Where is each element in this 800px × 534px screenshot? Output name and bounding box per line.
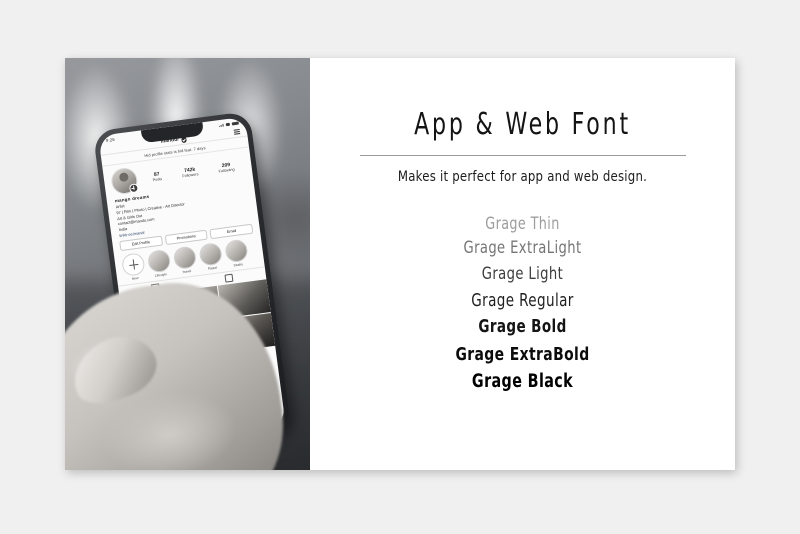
weight-light: Grage Light <box>340 262 706 288</box>
weight-thin: Grage Thin <box>340 211 706 236</box>
highlight-label: Travel <box>176 268 198 275</box>
highlight-label: Pastel <box>201 265 223 272</box>
stat-label: Following <box>218 167 235 174</box>
highlight-thumb[interactable] <box>173 246 198 271</box>
stat-label: Posts <box>152 177 162 183</box>
weight-extrabold: Grage ExtraBold <box>340 341 706 368</box>
weight-extralight: Grage ExtraLight <box>340 236 706 262</box>
weight-black: Grage Black <box>340 368 706 396</box>
highlight-label: New <box>124 275 146 282</box>
add-highlight-icon[interactable] <box>121 252 146 277</box>
highlight-item[interactable]: New <box>121 252 146 282</box>
hamburger-menu-icon[interactable] <box>234 128 241 134</box>
weight-bold: Grage Bold <box>340 314 706 341</box>
page-title: App & Web Font <box>348 58 697 140</box>
profile-stats: 87 Posts 742k Followers 209 Following <box>141 160 245 184</box>
highlight-item[interactable]: Pastel <box>198 242 223 272</box>
highlight-thumb[interactable] <box>198 242 223 267</box>
weight-regular: Grage Regular <box>340 288 706 315</box>
presentation-card: 9:26 mandu/ Hid pr <box>65 58 735 470</box>
font-showcase-panel: App & Web Font Makes it perfect for app … <box>310 58 735 470</box>
highlight-label: Studio <box>227 262 249 269</box>
stat-posts[interactable]: 87 Posts <box>152 171 163 183</box>
page-subtitle: Makes it perfect for app and web design. <box>331 169 714 185</box>
font-weight-list: Grage Thin Grage ExtraLight Grage Light … <box>310 211 735 396</box>
phone-photo-panel: 9:26 mandu/ Hid pr <box>65 58 310 470</box>
stat-following[interactable]: 209 Following <box>218 161 235 174</box>
highlight-thumb[interactable] <box>147 249 172 274</box>
highlight-item[interactable]: Travel <box>173 246 198 276</box>
title-divider <box>360 155 686 156</box>
highlight-item[interactable]: Lifestyle <box>147 249 172 279</box>
tagged-tab-icon[interactable] <box>224 274 233 283</box>
profile-avatar[interactable] <box>110 166 139 195</box>
highlight-thumb[interactable] <box>224 239 249 264</box>
slide-canvas: 9:26 mandu/ Hid pr <box>0 0 800 534</box>
stat-followers[interactable]: 742k Followers <box>181 166 199 179</box>
highlight-item[interactable]: Studio <box>224 239 249 269</box>
add-story-icon[interactable] <box>129 183 139 193</box>
highlight-label: Lifestyle <box>150 272 172 279</box>
